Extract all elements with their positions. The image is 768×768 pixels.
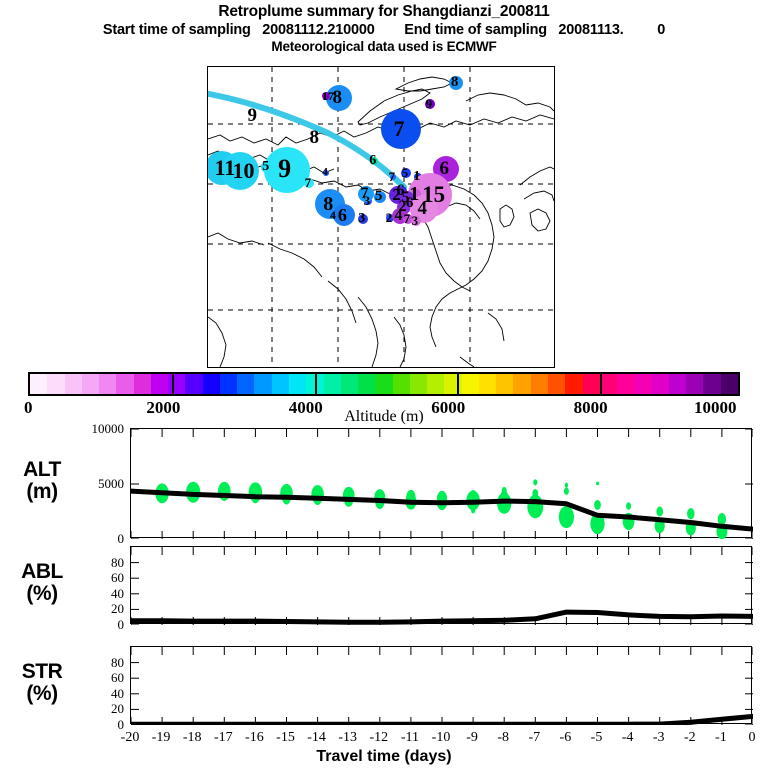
start-time-label: Start time of sampling: [103, 22, 251, 38]
coastline-group: [208, 77, 554, 367]
panel-abl: [130, 546, 752, 624]
retroplume-bubble-label: 8: [451, 75, 459, 90]
colorbar-swatch: [220, 374, 237, 394]
retroplume-bubble-label: 6: [406, 196, 414, 211]
y-tick-label: 40: [78, 586, 124, 602]
colorbar-swatch: [617, 374, 634, 394]
retroplume-bubble-label: 3: [412, 214, 419, 227]
retroplume-bubble-label: 3: [358, 212, 365, 226]
retroplume-map: 1110597467832817897651756151256244734639…: [207, 66, 555, 368]
y-tick-label: 0: [78, 617, 124, 633]
retroplume-bubble-label: 6: [440, 159, 450, 178]
colorbar-swatch: [634, 374, 651, 394]
map-base-svg: [208, 67, 554, 367]
colorbar-swatch: [375, 374, 392, 394]
colorbar-swatch: [496, 374, 513, 394]
y-tick-label: 80: [78, 655, 124, 671]
retroplume-bubble-label: 9: [248, 106, 258, 125]
colorbar-swatch: [548, 374, 565, 394]
retroplume-bubble-label: 7: [394, 118, 405, 140]
colorbar-major-tick: [457, 374, 459, 394]
retroplume-bubble-label: 6: [369, 154, 376, 168]
retroplume-bubble-label: 4: [395, 208, 403, 224]
colorbar-swatch: [185, 374, 202, 394]
colorbar-swatch: [203, 374, 220, 394]
y-tick-label: 10000: [78, 421, 124, 437]
colorbar-swatch: [513, 374, 530, 394]
altitude-scatter-point: [559, 506, 574, 528]
colorbar-swatch: [237, 374, 254, 394]
altitude-scatter-point: [594, 500, 601, 510]
panel-alt: [130, 428, 752, 538]
retroplume-bubble-label: 7: [404, 212, 411, 225]
colorbar-swatch: [583, 374, 600, 394]
y-tick-label: 20: [78, 601, 124, 617]
header-block: Retroplume summary for Shangdianzi_20081…: [0, 0, 768, 55]
retroplume-bubble-label: 17: [322, 90, 334, 102]
colorbar-swatch: [272, 374, 289, 394]
panel-label-line2-abl: (%): [6, 583, 78, 605]
altitude-scatter-point: [527, 495, 543, 519]
colorbar-swatch: [324, 374, 341, 394]
panel-label-line1-alt: ALT: [6, 459, 78, 481]
end-time-label: End time of sampling: [404, 22, 547, 38]
y-tick-label: 40: [78, 686, 124, 702]
colorbar-swatch: [358, 374, 375, 394]
panel-label-line2-alt: (m): [6, 481, 78, 503]
colorbar-swatch: [151, 374, 168, 394]
colorbar-major-tick: [172, 374, 174, 394]
y-tick-label: 5000: [78, 476, 124, 492]
altitude-scatter-point: [533, 479, 537, 485]
colorbar-swatch: [531, 374, 548, 394]
colorbar-major-tick: [315, 374, 317, 394]
retroplume-bubble-label: 4: [418, 199, 428, 218]
y-tick-label: 20: [78, 701, 124, 717]
colorbar-swatch: [134, 374, 151, 394]
colorbar-swatch: [410, 374, 427, 394]
y-tick-label: 0: [78, 531, 124, 547]
altitude-scatter-point: [687, 508, 695, 519]
colorbar-swatch: [565, 374, 582, 394]
retroplume-bubble-label: 8: [310, 128, 320, 147]
altitude-scatter-point: [656, 507, 663, 517]
x-tick-label: 0: [732, 730, 768, 746]
panel-label-str: STR(%): [6, 661, 78, 705]
retroplume-bubble-label: 10: [233, 160, 255, 182]
colorbar-swatch: [393, 374, 410, 394]
sampling-time-line: Start time of sampling 20081112.210000 E…: [0, 21, 768, 39]
altitude-scatter-point: [596, 482, 599, 486]
end-time-value: 20081113.: [558, 22, 623, 38]
colorbar-swatch: [254, 374, 271, 394]
colorbar-swatch: [686, 374, 703, 394]
graticule-group: [208, 67, 554, 367]
colorbar-swatch: [47, 374, 64, 394]
panel-label-line2-str: (%): [6, 683, 78, 705]
met-data-line: Meteorological data used is ECMWF: [0, 39, 768, 55]
start-time-value: 20081112.210000: [262, 22, 374, 38]
panel-label-line1-str: STR: [6, 661, 78, 683]
colorbar-swatch: [99, 374, 116, 394]
retroplume-bubble-label: 5: [262, 160, 269, 174]
colorbar-swatch: [652, 374, 669, 394]
retroplume-bubble-label: 9: [426, 97, 433, 110]
altitude-scatter-point: [471, 507, 475, 513]
retroplume-bubble-label: 6: [338, 206, 347, 224]
colorbar-major-tick: [600, 374, 602, 394]
altitude-scatter-point: [565, 483, 568, 488]
panel-label-abl: ABL(%): [6, 561, 78, 605]
colorbar-swatch: [703, 374, 720, 394]
y-tick-label: 60: [78, 670, 124, 686]
end-time-hour: 0: [657, 22, 665, 38]
retroplume-bubble-label: 2: [386, 211, 393, 224]
altitude-colorbar-group: [28, 372, 740, 396]
retroplume-bubble-label: 9: [278, 156, 291, 182]
colorbar-swatch: [65, 374, 82, 394]
colorbar-swatch: [168, 374, 185, 394]
panel-plot-str: [131, 647, 753, 725]
colorbar-swatch: [479, 374, 496, 394]
retroplume-bubble-label: 4: [322, 167, 328, 178]
retroplume-bubble-label: 7: [305, 176, 312, 189]
panel-str: [130, 646, 752, 724]
panel-label-line1-abl: ABL: [6, 561, 78, 583]
retroplume-bubble-label: 5: [375, 189, 383, 204]
colorbar-swatch: [427, 374, 444, 394]
y-tick-label: 80: [78, 555, 124, 571]
retroplume-bubble-label: 5: [402, 166, 409, 179]
retroplume-bubble-label: 7: [361, 186, 369, 202]
colorbar-swatch: [462, 374, 479, 394]
retroplume-bubble-label: 7: [389, 170, 396, 183]
colorbar-swatch: [600, 374, 617, 394]
colorbar-swatch: [116, 374, 133, 394]
colorbar-swatch: [669, 374, 686, 394]
panel-plot-alt: [131, 429, 753, 539]
panel-label-alt: ALT(m): [6, 459, 78, 503]
altitude-scatter-point: [564, 487, 569, 494]
colorbar-swatch: [289, 374, 306, 394]
altitude-scatter-point: [626, 502, 631, 509]
colorbar-swatch: [721, 374, 738, 394]
page-title: Retroplume summary for Shangdianzi_20081…: [0, 0, 768, 21]
panel-plot-abl: [131, 547, 753, 625]
y-tick-label: 60: [78, 570, 124, 586]
altitude-colorbar: [28, 372, 740, 396]
retroplume-bubble-label: 8: [333, 88, 343, 107]
colorbar-swatch: [341, 374, 358, 394]
retroplume-bubble-label: 1: [413, 170, 420, 184]
retroplume-bubble-label: 4: [330, 209, 336, 221]
x-axis-title: Travel time (days): [0, 748, 768, 766]
colorbar-swatch: [82, 374, 99, 394]
colorbar-swatch: [30, 374, 47, 394]
